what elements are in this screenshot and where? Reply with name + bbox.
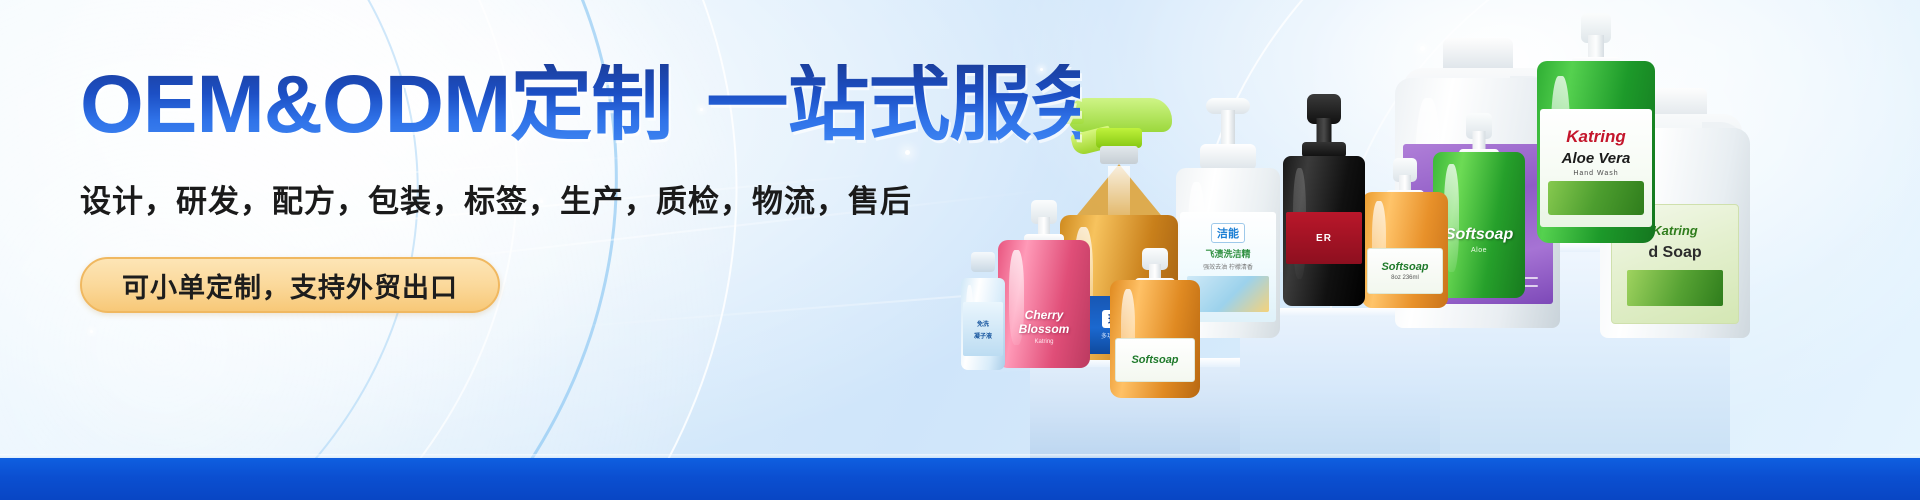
label-brand: Softsoap [1381, 261, 1428, 273]
label-leaf-art [1548, 181, 1644, 215]
custom-order-badge[interactable]: 可小单定制，支持外贸出口 [80, 257, 500, 313]
label-subtitle: 强效去油 柠檬清香 [1203, 262, 1253, 271]
label-product-name: 飞渍洗洁精 [1205, 247, 1250, 260]
product-black-pump-bottle: ER [1283, 94, 1365, 306]
label-subtitle: 凝子液 [974, 331, 992, 340]
bottom-accent-bar [0, 458, 1920, 500]
product-green-aloe-vera: Katring Aloe Vera Hand Wash [1537, 13, 1655, 243]
label-product-name: Aloe Vera [1562, 150, 1631, 167]
label-brand: 洁能 [1211, 223, 1245, 243]
jug-label-art [1627, 270, 1723, 306]
label-brand: Softsoap [1131, 354, 1178, 366]
service-list: 设计，研发，配方，包装，标签，生产，质检，物流，售后 [80, 176, 1080, 221]
label-brand: Softsoap [1445, 226, 1513, 244]
headline-part-2: 一站式服务 [706, 59, 1111, 150]
pump-stem [1317, 118, 1332, 144]
sparkle-9 [90, 330, 93, 333]
label-brand: Katring [1566, 128, 1626, 145]
label-subtitle: 8oz 236ml [1391, 275, 1419, 281]
product-orange-tall-softsoap: Softsoap [1110, 248, 1200, 398]
pump-stem [1221, 110, 1235, 144]
label-brand: Katring [1034, 339, 1053, 345]
headline: OEM&ODM定制一站式服务 [80, 64, 1080, 146]
bottle-label: Katring Aloe Vera Hand Wash [1540, 109, 1652, 227]
bottle-label: ER [1286, 212, 1362, 264]
bottle-label: Softsoap 8oz 236ml [1367, 248, 1443, 294]
bottle-label: Softsoap Aloe [1436, 194, 1522, 286]
jug-brand-text: Katring [1652, 223, 1698, 238]
spray-funnel-gloss [1108, 166, 1130, 218]
label-brand: 免洗 [977, 319, 989, 328]
product-group: Katring d Soap 珂妮 洗手液 Liquid S [1010, 28, 1710, 458]
headline-part-1: OEM&ODM定制 [80, 59, 672, 150]
label-subtitle: Aloe [1471, 247, 1487, 254]
label-text: ER [1316, 233, 1332, 244]
pump-collar [1200, 144, 1256, 170]
custom-order-badge-label: 可小单定制，支持外贸出口 [122, 266, 458, 305]
banner-copy: OEM&ODM定制一站式服务 设计，研发，配方，包装，标签，生产，质检，物流，售… [80, 64, 1080, 313]
product-orange-softsoap: Softsoap 8oz 236ml [1362, 158, 1448, 308]
bottle-label: Softsoap [1115, 338, 1195, 382]
jug-label-text: d Soap [1648, 244, 1701, 262]
label-subtitle: Hand Wash [1573, 170, 1618, 177]
promo-banner: Katring d Soap 珂妮 洗手液 Liquid S [0, 0, 1920, 500]
